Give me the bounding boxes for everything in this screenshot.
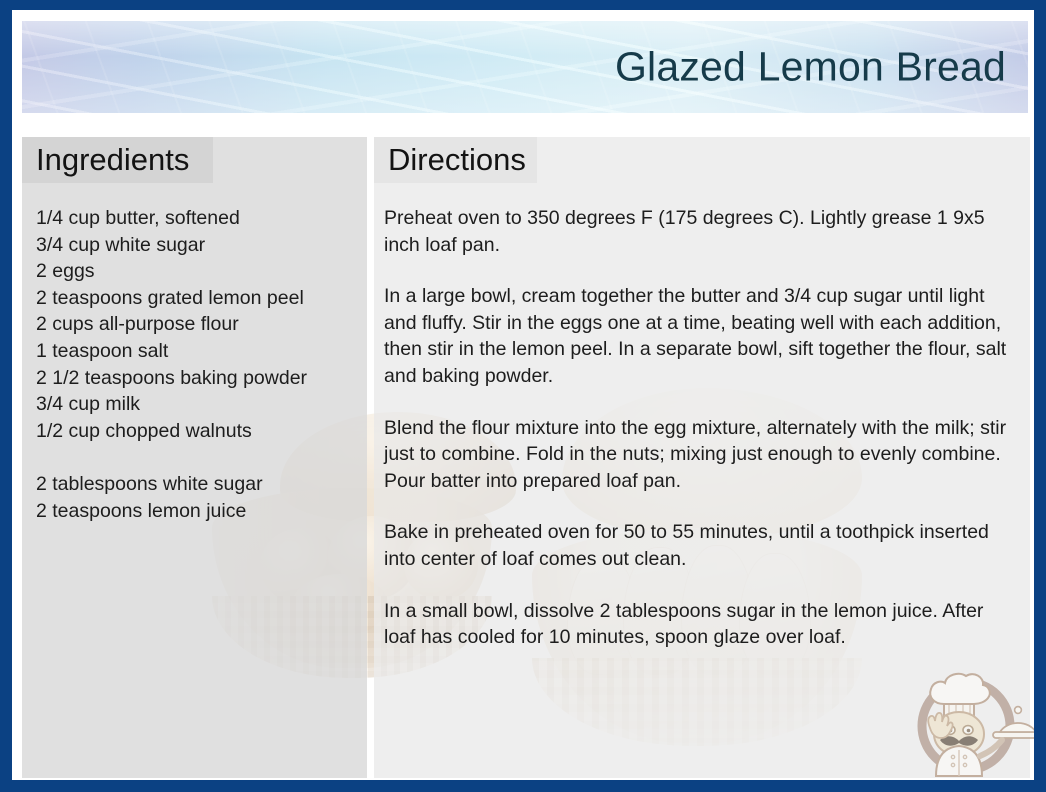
ingredient-item: 2 eggs bbox=[36, 258, 357, 285]
slide-page: Glazed Lemon Bread Ingredients bbox=[12, 10, 1034, 780]
direction-step: Bake in preheated oven for 50 to 55 minu… bbox=[384, 519, 1014, 572]
direction-step: Blend the flour mixture into the egg mix… bbox=[384, 415, 1014, 495]
ingredient-list-spacer bbox=[36, 444, 357, 471]
ingredient-item: 1 teaspoon salt bbox=[36, 338, 357, 365]
direction-step: In a small bowl, dissolve 2 tablespoons … bbox=[384, 598, 1014, 651]
ingredient-item: 2 teaspoons lemon juice bbox=[36, 498, 357, 525]
ingredient-item: 1/2 cup chopped walnuts bbox=[36, 418, 357, 445]
ingredient-item: 2 teaspoons grated lemon peel bbox=[36, 285, 357, 312]
ingredient-item: 2 cups all-purpose flour bbox=[36, 311, 357, 338]
ingredients-panel: Ingredients 1/4 cup butter, softened 3/4… bbox=[22, 137, 367, 778]
ingredient-item: 2 tablespoons white sugar bbox=[36, 471, 357, 498]
chef-mascot-logo bbox=[900, 652, 1034, 780]
title-banner: Glazed Lemon Bread bbox=[22, 21, 1028, 113]
ingredient-item: 1/4 cup butter, softened bbox=[36, 205, 357, 232]
directions-steps: Preheat oven to 350 degrees F (175 degre… bbox=[384, 205, 1014, 651]
page-title: Glazed Lemon Bread bbox=[615, 45, 1006, 88]
ingredient-item: 3/4 cup milk bbox=[36, 391, 357, 418]
ingredient-item: 2 1/2 teaspoons baking powder bbox=[36, 365, 357, 392]
recipe-card-slide: Glazed Lemon Bread Ingredients bbox=[0, 0, 1046, 792]
direction-step: In a large bowl, cream together the butt… bbox=[384, 283, 1014, 389]
directions-heading: Directions bbox=[388, 139, 526, 181]
direction-step: Preheat oven to 350 degrees F (175 degre… bbox=[384, 205, 1014, 258]
ingredient-item: 3/4 cup white sugar bbox=[36, 232, 357, 259]
ingredients-heading: Ingredients bbox=[36, 139, 189, 181]
ingredients-list: 1/4 cup butter, softened 3/4 cup white s… bbox=[36, 205, 357, 524]
